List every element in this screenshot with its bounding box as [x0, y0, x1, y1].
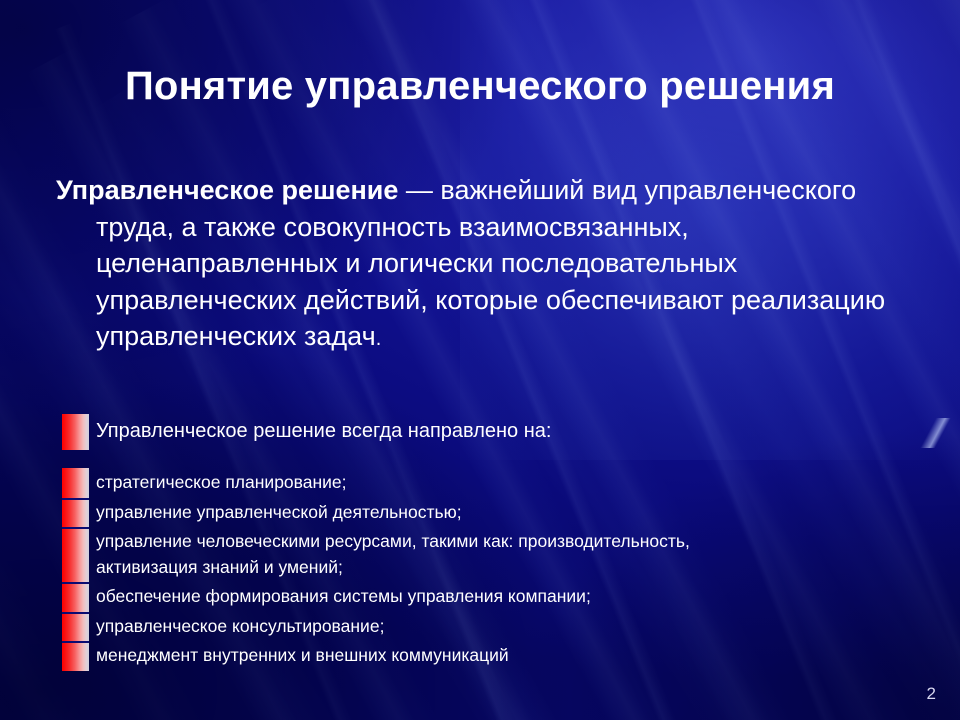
list-item-text: стратегическое планирование; — [89, 468, 942, 498]
list-item-text: управленческое консультирование; — [89, 612, 942, 642]
bullet-marker-icon — [62, 582, 89, 612]
presentation-slide: Понятие управленческого решения Управлен… — [0, 0, 960, 720]
list-item-line: управленческое консультирование; — [96, 616, 384, 636]
list-item-lead: Управленческое решение всегда направлено… — [62, 414, 942, 450]
list-item-text: обеспечение формирования системы управле… — [89, 582, 942, 612]
bullet-marker-icon — [62, 527, 89, 582]
list-item-line: управление человеческими ресурсами, таки… — [96, 531, 690, 551]
list-item-line: управление управленческой деятельностью; — [96, 502, 462, 522]
bullet-marker-icon — [62, 612, 89, 642]
bullet-marker-icon — [62, 468, 89, 498]
bullet-list: Управленческое решение всегда направлено… — [62, 414, 942, 671]
list-item-text: управление человеческими ресурсами, таки… — [89, 527, 942, 582]
slide-content: Понятие управленческого решения Управлен… — [0, 0, 960, 720]
list-item: управленческое консультирование; — [62, 612, 942, 642]
list-item: управление управленческой деятельностью; — [62, 498, 942, 528]
list-item-line: менеджмент внутренних и внешних коммуник… — [96, 645, 509, 665]
list-item: менеджмент внутренних и внешних коммуник… — [62, 641, 942, 671]
slide-title: Понятие управленческого решения — [0, 62, 960, 110]
bullet-marker-icon — [62, 414, 89, 450]
page-number: 2 — [927, 684, 936, 704]
bullet-marker-icon — [62, 641, 89, 671]
list-item-line: обеспечение формирования системы управле… — [96, 586, 591, 606]
definition-paragraph: Управленческое решение — важнейший вид у… — [56, 172, 936, 358]
bullet-marker-icon — [62, 498, 89, 528]
list-item-line: стратегическое планирование; — [96, 472, 347, 492]
list-item: управление человеческими ресурсами, таки… — [62, 527, 942, 582]
list-item-text: управление управленческой деятельностью; — [89, 498, 942, 528]
list-item-text: менеджмент внутренних и внешних коммуник… — [89, 641, 942, 671]
list-item-line-wrapped: активизация знаний и умений; — [96, 555, 942, 581]
list-item: стратегическое планирование; — [62, 468, 942, 498]
definition-trailing-mark: . — [376, 328, 382, 350]
list-spacer — [62, 450, 942, 468]
list-item: обеспечение формирования системы управле… — [62, 582, 942, 612]
list-item-lead-label: Управленческое решение всегда направлено… — [89, 414, 942, 444]
definition-term: Управленческое решение — [56, 175, 398, 205]
